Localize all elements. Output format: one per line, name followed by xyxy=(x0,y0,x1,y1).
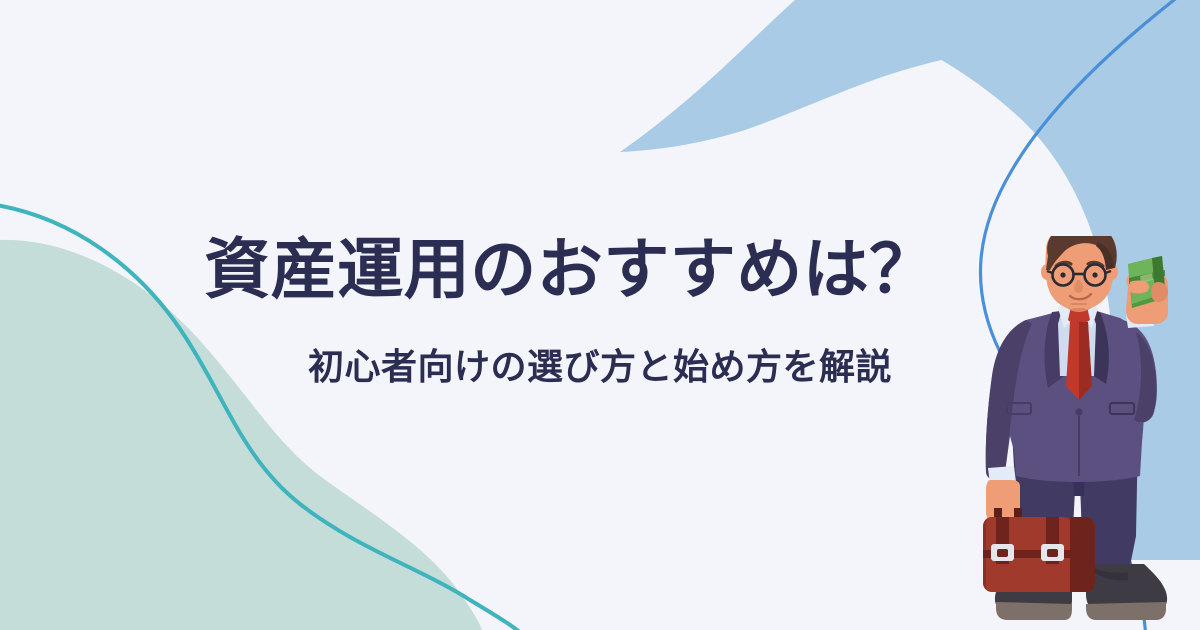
jacket-button xyxy=(1075,408,1082,415)
fingers-right xyxy=(1129,281,1149,294)
shoe-right xyxy=(1086,564,1167,620)
eye-left xyxy=(1060,272,1065,277)
thumb-right xyxy=(1151,282,1168,302)
businessman-illustration xyxy=(960,236,1200,630)
banner-canvas: 資産運用のおすすめは？ 初心者向けの選び方と始め方を解説 xyxy=(0,0,1200,630)
briefcase xyxy=(983,508,1095,592)
eye-right xyxy=(1092,272,1097,277)
